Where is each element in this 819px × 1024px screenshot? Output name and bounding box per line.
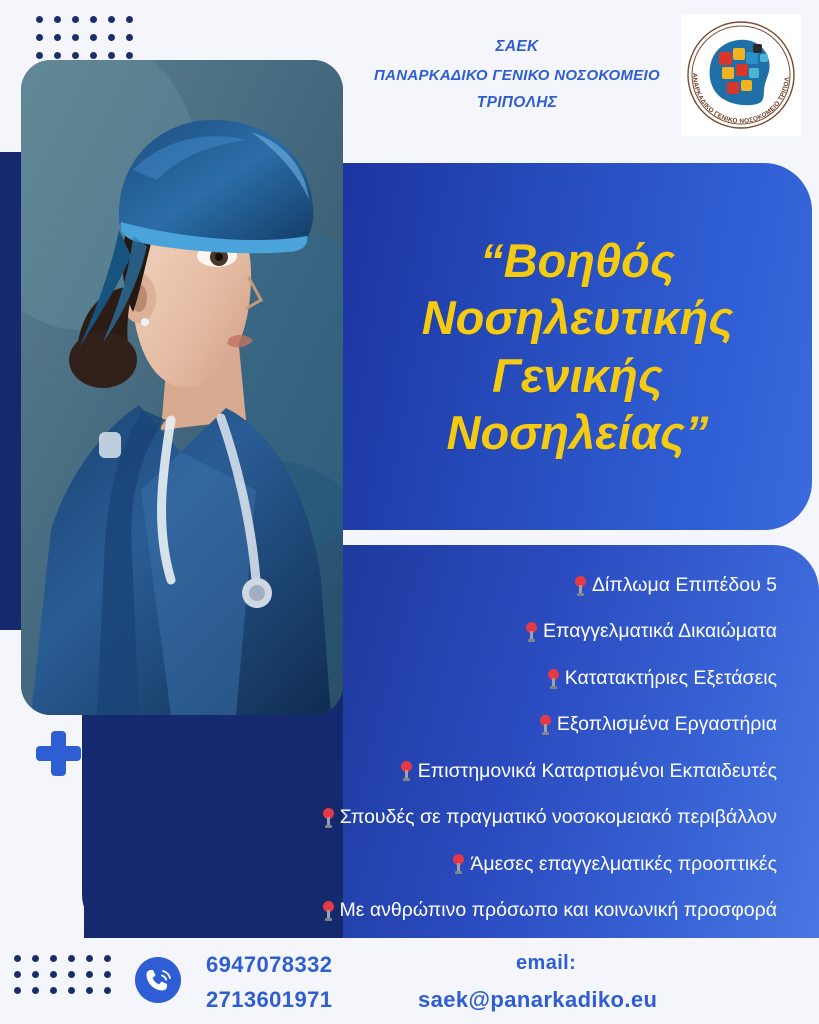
puzzle-head-icon <box>710 40 770 105</box>
list-item-label: Με ανθρώπινο πρόσωπο και κοινωνική προσφ… <box>340 900 777 921</box>
header-line-city: ΤΡΙΠΟΛΗΣ <box>352 89 682 118</box>
list-item: Επαγγελματικά Δικαιώματα <box>353 621 777 642</box>
email-label: email: <box>516 952 576 975</box>
pin-icon <box>540 715 551 735</box>
list-item: Εξοπλισμένα Εργαστήρια <box>353 714 777 735</box>
list-item-label: Άμεσες επαγγελματικές προοπτικές <box>470 854 777 875</box>
phone-number-mobile[interactable]: 6947078332 <box>206 952 332 978</box>
phone-call-icon[interactable] <box>135 957 181 1003</box>
pin-icon <box>453 854 464 874</box>
title-line-2: Νοσηλευτικής <box>353 289 802 346</box>
email-address[interactable]: saek@panarkadiko.eu <box>418 987 657 1013</box>
list-item-label: Σπουδές σε πραγματικό νοσοκομειακό περιβ… <box>340 807 777 828</box>
list-item: Με ανθρώπινο πρόσωπο και κοινωνική προσφ… <box>353 900 777 921</box>
course-title-panel: “Βοηθός Νοσηλευτικής Γενικής Νοσηλείας” <box>343 163 812 530</box>
list-item: Σπουδές σε πραγματικό νοσοκομειακό περιβ… <box>353 807 777 828</box>
list-item-label: Κατατακτήριες Εξετάσεις <box>565 668 777 689</box>
title-line-4: Νοσηλείας” <box>353 404 802 461</box>
contact-footer <box>0 938 819 1024</box>
pin-icon <box>548 669 559 689</box>
organization-header: ΣΑΕΚ ΠΑΝΑΡΚΑΔΙΚΟ ΓΕΝΙΚΟ ΝΟΣΟΚΟΜΕΙΟ ΤΡΙΠΟ… <box>352 33 682 118</box>
dot-grid-bottom-left <box>14 955 122 1003</box>
title-line-3: Γενικής <box>353 347 802 404</box>
list-item: Δίπλωμα Επιπέδου 5 <box>353 575 777 596</box>
saek-logo: Σ.Α.Ε.Κ ΠΑΝΑΡΚΑΔΙΚΟ ΓΕΝΙΚΟ ΝΟΣΟΚΟΜΕΙΟ ΤΡ… <box>681 14 801 136</box>
list-item: Κατατακτήριες Εξετάσεις <box>353 668 777 689</box>
medical-cross-icon <box>36 731 81 776</box>
list-item: Άμεσες επαγγελματικές προοπτικές <box>353 854 777 875</box>
course-title: “Βοηθός Νοσηλευτικής Γενικής Νοσηλείας” <box>343 232 812 461</box>
pin-icon <box>401 761 412 781</box>
pin-icon <box>323 808 334 828</box>
list-item-label: Δίπλωμα Επιπέδου 5 <box>592 575 777 596</box>
list-item-label: Επιστημονικά Καταρτισμένοι Εκπαιδευτές <box>418 761 777 782</box>
poster-root: ΣΑΕΚ ΠΑΝΑΡΚΑΔΙΚΟ ΓΕΝΙΚΟ ΝΟΣΟΚΟΜΕΙΟ ΤΡΙΠΟ… <box>0 0 819 1024</box>
list-item: Επιστημονικά Καταρτισμένοι Εκπαιδευτές <box>353 761 777 782</box>
pin-icon <box>323 901 334 921</box>
title-line-1: “Βοηθός <box>353 232 802 289</box>
features-list-panel: Δίπλωμα Επιπέδου 5 Επαγγελματικά Δικαιώμ… <box>343 545 819 938</box>
nurse-portrait-photo <box>21 60 343 715</box>
header-line-saek: ΣΑΕΚ <box>352 33 682 62</box>
pin-icon <box>575 576 586 596</box>
phone-number-landline[interactable]: 2713601971 <box>206 987 332 1013</box>
list-item-label: Εξοπλισμένα Εργαστήρια <box>557 714 777 735</box>
header-line-hospital: ΠΑΝΑΡΚΑΔΙΚΟ ΓΕΝΙΚΟ ΝΟΣΟΚΟΜΕΙΟ <box>352 62 682 90</box>
list-item-label: Επαγγελματικά Δικαιώματα <box>543 621 777 642</box>
pin-icon <box>526 622 537 642</box>
